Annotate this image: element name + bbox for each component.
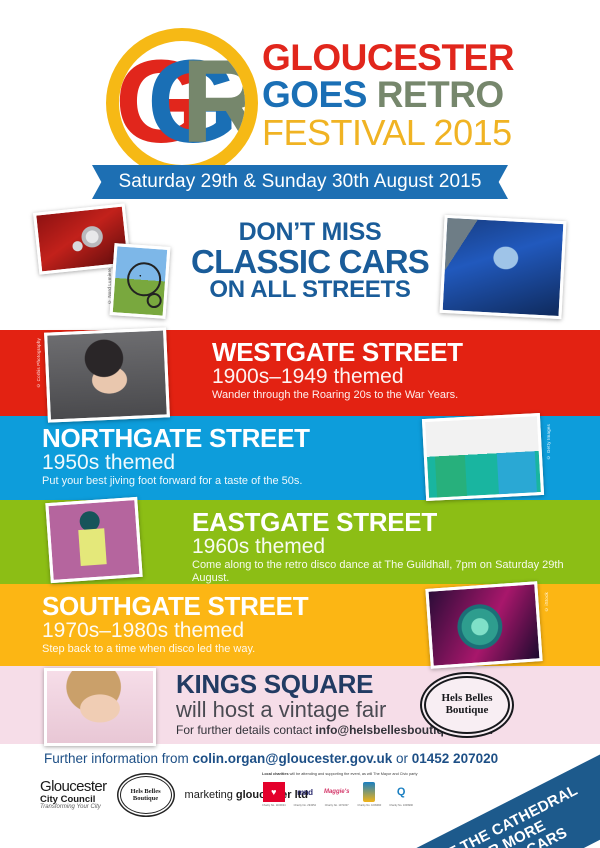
eastgate-description: Come along to the retro disco dance at T… (192, 559, 600, 585)
title-goes: GOES (262, 74, 367, 115)
photo-credit-southgate: © iStock (544, 592, 549, 612)
dont-miss-line2: CLASSIC CARS (180, 245, 440, 278)
title-retro: RETRO (377, 74, 504, 115)
northgate-description: Put your best jiving foot forward for a … (42, 475, 310, 488)
charity-logo-maggies: Maggie's Charity No. 1071037 (324, 782, 349, 807)
maggies-wordmark-icon: Maggie's (324, 789, 349, 795)
charity-logo-gosh: ♥ Charity No. 1160024 (262, 782, 286, 807)
council-line3: Transforming Your City (40, 804, 107, 810)
cathedral-reg: Charity No. 1009990 (357, 804, 381, 807)
cathedral-mark-icon (363, 782, 375, 802)
hels-belles-footer-logo: Hels Belles Boutique (120, 776, 172, 814)
hels-footer-line1: Hels Belles (130, 788, 160, 795)
marketing-light-text: marketing (185, 789, 236, 801)
photo-credit-northgate: © Getty Images (546, 424, 551, 460)
mnda-reg: Charity No. 294354 (294, 804, 316, 807)
q-mark-icon: Q (397, 786, 406, 798)
maggies-reg: Charity No. 1071037 (325, 804, 349, 807)
logo-letters-icon: G G R (119, 41, 245, 165)
photo-1960s-illustration (45, 497, 142, 583)
charity-logo-row: ♥ Charity No. 1160024 mnd Charity No. 29… (262, 782, 452, 808)
northgate-theme: 1950s themed (42, 451, 310, 475)
dont-miss-line3: ON ALL STREETS (180, 278, 440, 302)
date-ribbon-wrap: Saturday 29th & Sunday 30th August 2015 (0, 165, 600, 201)
footer-contact-line: Further information from colin.organ@glo… (44, 751, 498, 766)
council-line1: Gloucester (40, 779, 107, 794)
southgate-theme: 1970s–1980s themed (42, 619, 308, 643)
hels-footer-line2: Boutique (133, 795, 158, 802)
eastgate-title: EASTGATE STREET (192, 509, 600, 535)
mnda-wordmark-icon: mnd (297, 788, 312, 797)
charity-logo-mnda: mnd Charity No. 294354 (294, 782, 316, 807)
photo-penny-farthing (110, 243, 171, 319)
footer-contact-joiner: or (392, 751, 412, 766)
gosh-heart-icon: ♥ (263, 782, 285, 802)
southgate-text: SOUTHGATE STREET 1970s–1980s themed Step… (42, 593, 308, 656)
northgate-text: NORTHGATE STREET 1950s themed Put your b… (42, 425, 310, 488)
title-gloucester: GLOUCESTER (262, 40, 592, 76)
southgate-description: Step back to a time when disco led the w… (42, 643, 308, 656)
westgate-text: WESTGATE STREET 1900s–1949 themed Wander… (212, 339, 463, 402)
southgate-title: SOUTHGATE STREET (42, 593, 308, 619)
council-line2: City Council (40, 795, 107, 805)
photo-vintage-pinup (44, 668, 156, 746)
hels-badge-line2: Boutique (446, 705, 489, 717)
northgate-title: NORTHGATE STREET (42, 425, 310, 451)
photo-credit-bike: © Nord Lumiere (107, 268, 112, 304)
poster-root: G G R GLOUCESTER GOES RETRO FESTIVAL 201… (0, 0, 600, 848)
dont-miss-text: DON’T MISS CLASSIC CARS ON ALL STREETS (180, 220, 440, 302)
photo-1920s-flapper (44, 327, 170, 422)
gosh-reg: Charity No. 1160024 (262, 804, 286, 807)
photo-1950s-girls (422, 413, 544, 501)
photo-disco-ball (425, 581, 542, 669)
kings-square-contact-prefix: For further details contact (176, 723, 315, 737)
photo-credit-westgate: © Corbis Photography (36, 338, 41, 388)
ggr-logo: G G R (106, 28, 258, 178)
charities-block: Local charities will be attending and su… (262, 772, 452, 808)
title-goes-retro: GOES RETRO (262, 76, 592, 114)
eastgate-theme: 1960s themed (192, 535, 600, 559)
footer-contact-email[interactable]: colin.organ@gloucester.gov.uk (193, 751, 393, 766)
gloucester-city-council-logo: Gloucester City Council Transforming You… (40, 779, 107, 810)
dont-miss-line1: DON’T MISS (180, 220, 440, 245)
festival-title: GLOUCESTER GOES RETRO FESTIVAL 2015 (262, 40, 592, 152)
westgate-description: Wander through the Roaring 20s to the Wa… (212, 389, 463, 402)
footer-contact-phone[interactable]: 01452 207020 (412, 751, 498, 766)
westgate-theme: 1900s–1949 themed (212, 365, 463, 389)
date-ribbon: Saturday 29th & Sunday 30th August 2015 (108, 165, 492, 199)
q-reg: Charity No. 1009990 (389, 804, 413, 807)
charities-note: Local charities will be attending and su… (262, 772, 452, 777)
charity-logo-q: Q Charity No. 1009990 (389, 782, 413, 807)
westgate-title: WESTGATE STREET (212, 339, 463, 365)
title-festival-year: FESTIVAL 2015 (262, 114, 592, 152)
charities-note-rest: will be attending and supporting the eve… (289, 772, 418, 776)
charity-logo-cathedral: Charity No. 1009990 (357, 782, 381, 807)
footer-contact-prefix: Further information from (44, 751, 193, 766)
hels-belles-badge-icon: Hels Belles Boutique (424, 676, 510, 734)
charities-note-bold: Local charities (262, 772, 289, 776)
eastgate-text: EASTGATE STREET 1960s themed Come along … (192, 509, 600, 586)
photo-blue-classic-car (440, 215, 567, 319)
poster-header: G G R GLOUCESTER GOES RETRO FESTIVAL 201… (0, 0, 600, 205)
